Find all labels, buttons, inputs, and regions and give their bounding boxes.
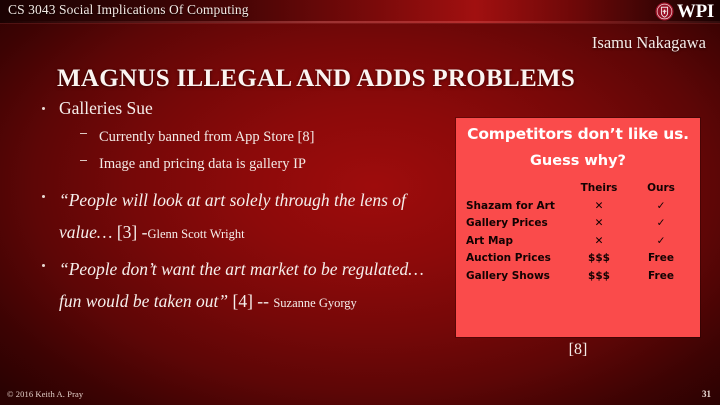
- quote-item: “People don’t want the art market to be …: [30, 253, 450, 319]
- cell-feature: Art Map: [466, 233, 568, 251]
- table-header-row: Theirs Ours: [466, 180, 692, 198]
- list-item: Currently banned from App Store [8]: [30, 124, 450, 151]
- presenter-name: Isamu Nakagawa: [592, 33, 706, 53]
- table-row: Art Map✕✓: [466, 233, 692, 251]
- competitor-comparison-image: Competitors don’t like us. Guess why? Th…: [456, 118, 700, 337]
- cell-feature: Gallery Prices: [466, 215, 568, 233]
- image-headline: Competitors don’t like us.: [466, 125, 690, 144]
- cell-ours: ✓: [630, 215, 692, 233]
- list-item-label: Galleries Sue: [59, 98, 153, 118]
- bullet-dot-icon: [42, 107, 45, 110]
- cell-theirs: $$$: [568, 250, 630, 268]
- table-row: Gallery Prices✕✓: [466, 215, 692, 233]
- column-header-feature: [466, 180, 568, 198]
- comparison-table: Theirs Ours Shazam for Art✕✓Gallery Pric…: [466, 180, 692, 285]
- quote-attribution: Glenn Scott Wright: [147, 227, 244, 241]
- table-row: Auction Prices$$$Free: [466, 250, 692, 268]
- cell-feature: Gallery Shows: [466, 268, 568, 286]
- quote-reference: [3] -: [117, 222, 148, 242]
- page-title: MAGNUS ILLEGAL AND ADDS PROBLEMS: [57, 64, 575, 94]
- list-item: Galleries Sue: [30, 96, 450, 121]
- cell-ours: Free: [630, 250, 692, 268]
- wpi-seal-icon: [655, 2, 674, 21]
- header-bar: CS 3043 Social Implications Of Computing: [0, 0, 720, 23]
- slide-canvas: CS 3043 Social Implications Of Computing…: [0, 0, 720, 405]
- quote-item: “People will look at art solely through …: [30, 184, 450, 250]
- page-number: 31: [702, 389, 711, 399]
- dash-bullet-icon: [80, 160, 87, 162]
- comparison-table-body: Shazam for Art✕✓Gallery Prices✕✓Art Map✕…: [466, 198, 692, 286]
- wpi-logo: WPI: [655, 1, 714, 22]
- table-row: Gallery Shows$$$Free: [466, 268, 692, 286]
- cell-theirs: ✕: [568, 233, 630, 251]
- bullet-dot-icon: [42, 264, 45, 267]
- list-item-label: Image and pricing data is gallery IP: [99, 156, 306, 172]
- table-row: Shazam for Art✕✓: [466, 198, 692, 216]
- cell-feature: Shazam for Art: [466, 198, 568, 216]
- course-title: CS 3043 Social Implications Of Computing: [8, 2, 249, 18]
- list-item-label: Currently banned from App Store [8]: [99, 129, 314, 145]
- dash-bullet-icon: [80, 133, 87, 135]
- column-header-theirs: Theirs: [568, 180, 630, 198]
- cell-theirs: $$$: [568, 268, 630, 286]
- column-header-ours: Ours: [630, 180, 692, 198]
- cell-theirs: ✕: [568, 198, 630, 216]
- wpi-wordmark: WPI: [677, 2, 714, 21]
- list-item: Image and pricing data is gallery IP: [30, 151, 450, 178]
- slide-body: Galleries Sue Currently banned from App …: [30, 96, 450, 322]
- cell-ours: ✓: [630, 233, 692, 251]
- copyright-notice: © 2016 Keith A. Pray: [7, 389, 83, 399]
- image-caption: [8]: [456, 341, 700, 359]
- sub-list: Currently banned from App Store [8] Imag…: [30, 124, 450, 178]
- cell-ours: ✓: [630, 198, 692, 216]
- quote-reference: [4] --: [233, 291, 269, 311]
- cell-feature: Auction Prices: [466, 250, 568, 268]
- image-subheadline: Guess why?: [466, 153, 690, 170]
- cell-theirs: ✕: [568, 215, 630, 233]
- bullet-dot-icon: [42, 195, 45, 198]
- quote-attribution: Suzanne Gyorgy: [273, 296, 356, 310]
- cell-ours: Free: [630, 268, 692, 286]
